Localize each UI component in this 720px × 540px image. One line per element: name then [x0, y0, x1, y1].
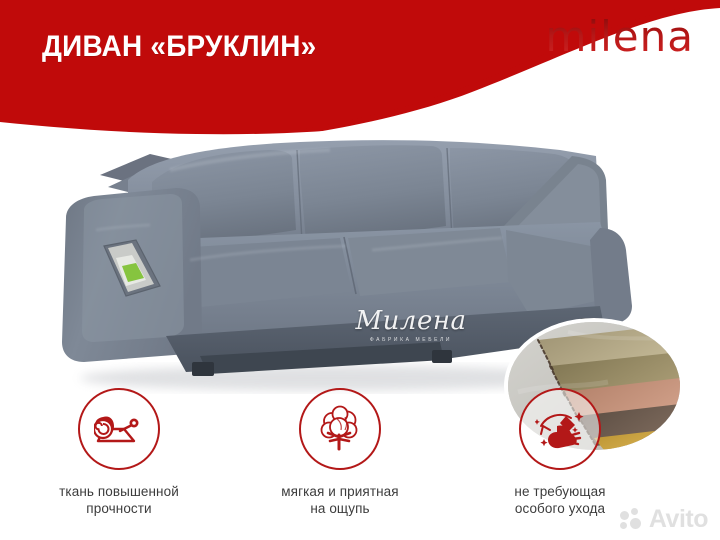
feature-label: мягкая и приятная на ощупь: [220, 484, 460, 518]
feature-item-durable-fabric: ткань повышенной прочности: [0, 382, 239, 518]
hand-wash-glyph: [535, 406, 585, 452]
feature-label-line2: прочности: [86, 501, 151, 516]
feature-item-soft-touch: мягкая и приятная на ощупь: [220, 382, 460, 518]
feature-label-line2: на ощупь: [310, 501, 369, 516]
feature-label-line1: мягкая и приятная: [281, 484, 398, 499]
feature-item-easy-care: не требующая особого ухода: [440, 382, 680, 518]
sofa-image: Милена фабрика мебели: [0, 110, 720, 400]
feature-label-line2: особого ухода: [515, 501, 605, 516]
avito-watermark: Avito: [620, 507, 708, 532]
features-row: ткань повышенной прочности: [0, 382, 720, 512]
fabric-roll-icon: [78, 388, 160, 470]
feature-label-line1: ткань повышенной: [59, 484, 179, 499]
cotton-boll-glyph: [316, 405, 364, 453]
avito-wordmark: Avito: [649, 507, 708, 532]
fabric-roll-glyph: [94, 407, 144, 451]
hand-wash-icon: [519, 388, 601, 470]
product-banner: ДИВАН «БРУКЛИН» milena: [0, 0, 720, 540]
feature-label: ткань повышенной прочности: [0, 484, 239, 518]
brand-logo: milena: [546, 16, 694, 58]
page-title: ДИВАН «БРУКЛИН»: [42, 30, 316, 64]
avito-logo-icon: [620, 508, 644, 532]
feature-label-line1: не требующая: [514, 484, 605, 499]
cotton-boll-icon: [299, 388, 381, 470]
